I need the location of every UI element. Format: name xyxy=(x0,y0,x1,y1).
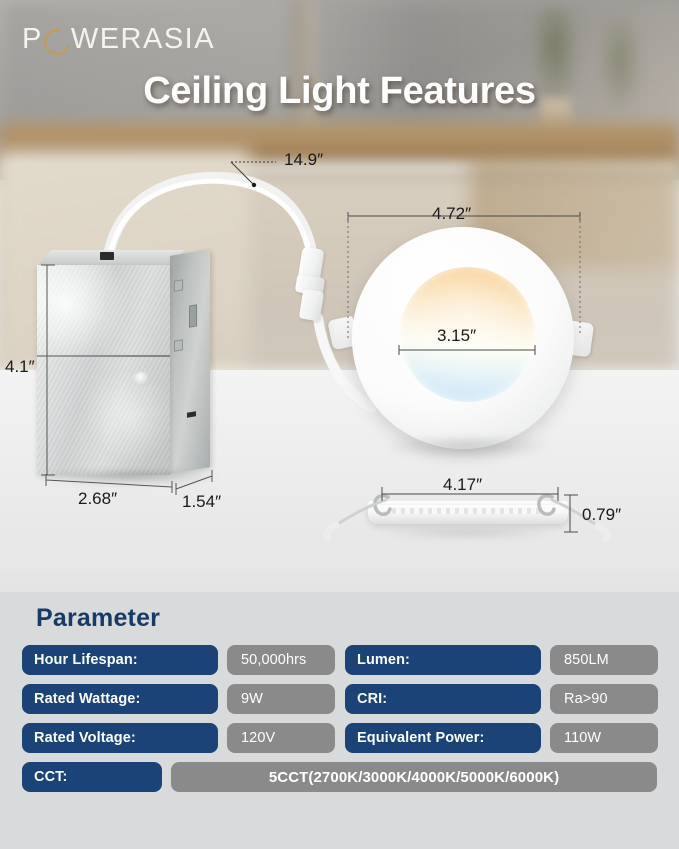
parameter-cell-group-right: Equivalent Power: 110W xyxy=(345,723,658,753)
dimension-label-cable-length: 14.9″ xyxy=(284,150,323,170)
parameter-label-cri: CRI: xyxy=(345,684,541,714)
parameter-label-cct: CCT: xyxy=(22,762,162,792)
parameter-value-cri: Ra>90 xyxy=(550,684,658,714)
parameter-label-rated-wattage: Rated Wattage: xyxy=(22,684,218,714)
parameter-cell-group-left: Hour Lifespan: 50,000hrs xyxy=(22,645,335,675)
dimension-label-profile-height: 0.79″ xyxy=(582,505,621,525)
parameter-value-rated-voltage: 120V xyxy=(227,723,335,753)
parameter-label-lumen: Lumen: xyxy=(345,645,541,675)
dimension-label-profile-width: 4.17″ xyxy=(443,475,482,495)
table-row: Rated Voltage: 120V Equivalent Power: 11… xyxy=(22,723,657,753)
parameter-label-hour-lifespan: Hour Lifespan: xyxy=(22,645,218,675)
parameter-cell-group-left: Rated Voltage: 120V xyxy=(22,723,335,753)
parameter-value-hour-lifespan: 50,000hrs xyxy=(227,645,335,675)
product-photo-group: 14.9″ 4.1″ 2.68″ 1.54″ 4.72″ 3.15″ 4.17″… xyxy=(0,0,679,592)
parameter-cell-group-left: Rated Wattage: 9W xyxy=(22,684,335,714)
dimension-label-box-width: 2.68″ xyxy=(78,489,117,509)
parameter-value-cct: 5CCT(2700K/3000K/4000K/5000K/6000K) xyxy=(171,762,657,792)
parameter-panel: Parameter Hour Lifespan: 50,000hrs Lumen… xyxy=(0,592,679,849)
parameter-label-equivalent-power: Equivalent Power: xyxy=(345,723,541,753)
table-row-cct: CCT: 5CCT(2700K/3000K/4000K/5000K/6000K) xyxy=(22,762,657,792)
parameter-heading: Parameter xyxy=(36,604,160,633)
dimension-label-box-height: 4.1″ xyxy=(5,357,35,377)
dimension-label-outer-diameter: 4.72″ xyxy=(432,204,471,224)
parameter-value-rated-wattage: 9W xyxy=(227,684,335,714)
table-row: Rated Wattage: 9W CRI: Ra>90 xyxy=(22,684,657,714)
dimension-label-box-depth: 1.54″ xyxy=(182,492,221,512)
infographic-page: P WERASIA Ceiling Light Features xyxy=(0,0,679,849)
parameter-label-rated-voltage: Rated Voltage: xyxy=(22,723,218,753)
parameter-value-lumen: 850LM xyxy=(550,645,658,675)
table-row: Hour Lifespan: 50,000hrs Lumen: 850LM xyxy=(22,645,657,675)
parameter-cell-group-right: Lumen: 850LM xyxy=(345,645,658,675)
parameter-cell-group-right: CRI: Ra>90 xyxy=(345,684,658,714)
parameter-value-equivalent-power: 110W xyxy=(550,723,658,753)
dimension-label-lens-diameter: 3.15″ xyxy=(437,326,476,346)
parameter-table: Hour Lifespan: 50,000hrs Lumen: 850LM Ra… xyxy=(22,645,657,801)
